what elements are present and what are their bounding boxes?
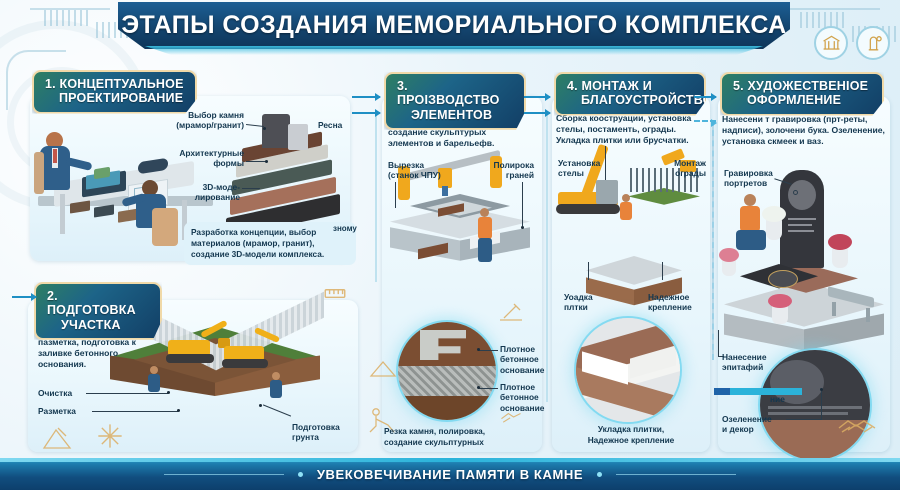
stage-1-bubble: Разработка концепции, выбор материалов (… [184, 222, 356, 265]
stage-2-badge[interactable]: 2. ПОДГОТОВКА УЧАСТКА [34, 282, 162, 340]
leader-dot [793, 190, 798, 195]
flow-arrow-into-2 [12, 296, 36, 298]
engraved-portrait [788, 180, 816, 210]
stage-5-badge-line2: ОФОРМЛЕНИЕ [733, 93, 871, 107]
chisel-icon [496, 300, 526, 331]
footer-dot [597, 472, 602, 477]
stage-5-badge[interactable]: 5. ХУДОЖЕСТВЕНІОЕ ОФОРМЛЕНИЕ [720, 72, 884, 116]
label-secure-fixing: Надежное крепление [648, 292, 692, 313]
stage-4-badge[interactable]: 4. МОНТАЖ И БЛАГОУСТРОЙСТВО [554, 72, 706, 116]
label-architectural-forms: Архитектурные формы [152, 148, 244, 169]
stage-4-badge-line1: 4. МОНТАЖ И [567, 79, 693, 93]
monument-icon[interactable] [856, 26, 890, 60]
footer-rule [164, 474, 284, 475]
flow-arrow-2-3 [352, 112, 380, 114]
leader-line [395, 182, 396, 208]
leader-dot [263, 127, 266, 130]
leader-dot [521, 226, 524, 229]
flow-arrow-4-5 [694, 96, 716, 98]
zoom-circle-tiles [576, 318, 680, 422]
worker-body [478, 217, 492, 239]
leader-line [786, 419, 822, 420]
worker-head [272, 372, 280, 380]
title-plate: ЭТАПЫ СОЗДАНИЯ МЕМОРИАЛЬНОГО КОМПЛЕКСА [118, 2, 790, 49]
flow-arrow-4-5-dashed [694, 120, 716, 122]
label-resna: Ресна [318, 120, 342, 130]
handshake-icon [836, 412, 878, 447]
rail-1 [375, 112, 377, 282]
overlay-bar [714, 388, 802, 395]
crane-track [556, 204, 620, 214]
leader-line [522, 182, 523, 226]
footer: УВЕКОВЕЧИВАНИЕ ПАМЯТИ В КАМНЕ [0, 458, 900, 490]
ledger-portrait [768, 270, 798, 288]
worker-body [620, 202, 632, 220]
label-3d-modeling: 3D-моде- лирование [152, 182, 240, 203]
label-marking: Разметка [38, 406, 76, 416]
leader-line [821, 390, 822, 420]
stage-1-badge[interactable]: 1. КОНЦЕПТУАЛЬНОЕ ПРОЕКТИРОВАНИЕ [32, 70, 197, 114]
stage-4-badge-line2: БЛАГОУСТРОЙСТВО [567, 93, 693, 107]
leader-line [92, 411, 178, 412]
label-epitaph: Нанесение эпитафий [722, 352, 767, 373]
label-portrait-engraving: Гравировка портретов [724, 168, 773, 189]
stage-4-description: Сборка кооструации, установка стелы, пос… [556, 113, 708, 146]
label-obscured-bar: ние [770, 394, 785, 404]
leader-dot [167, 391, 170, 394]
stele-light [288, 124, 308, 150]
leader-line [86, 393, 168, 394]
leader-line [588, 262, 589, 280]
ruler-icon [322, 280, 348, 311]
stage-5-badge-line1: 5. ХУДОЖЕСТВЕНІОЕ [733, 79, 871, 93]
stage-3-caption: Резка камня, полировка, создание скульпт… [384, 426, 534, 448]
stage-5-description: Нанесени т гравировка (прт-реты, надписи… [722, 114, 888, 147]
cnc-tool [442, 186, 448, 196]
chair [152, 208, 178, 246]
stage-3-badge-line2: ЭЛЕМЕНТОВ [397, 108, 513, 122]
worker-body [270, 380, 282, 398]
stage-3-badge[interactable]: 3. ПРОІЗВОДСТВО ЭЛЕМЕНТОВ [384, 72, 526, 130]
classical-building-icon[interactable] [814, 26, 848, 60]
table-leg [60, 194, 65, 234]
flowers-pink [768, 294, 792, 308]
leader-line [242, 188, 260, 189]
leader-line [662, 262, 663, 280]
page-title: ЭТАПЫ СОЗДАНИЯ МЕМОРИАЛЬНОГО КОМПЛЕКСА [121, 11, 786, 40]
stage-1-badge-line2: ПРОЕКТИРОВАНИЕ [45, 91, 184, 105]
leader-line [246, 161, 266, 162]
flow-arrow-1-3 [352, 96, 380, 98]
engraved-line [788, 224, 812, 226]
bench-leg [866, 308, 870, 322]
person-tie [53, 149, 57, 163]
zoom-circle-concrete [398, 322, 496, 420]
stele-block [596, 180, 618, 204]
trowel-icon [40, 424, 76, 457]
header: ЭТАПЫ СОЗДАНИЯ МЕМОРИАЛЬНОГО КОМПЛЕКСА [0, 0, 900, 62]
stage-3-badge-line1: 3. ПРОІЗВОДСТВО [397, 79, 513, 108]
leader-dot [477, 386, 480, 389]
material-sample [70, 200, 90, 213]
rail-3 [712, 120, 714, 360]
leader-dot [265, 160, 268, 163]
label-tile-laying: Уоадка плтки [564, 292, 593, 313]
flowers-red [828, 234, 852, 250]
footer-dot [298, 472, 303, 477]
snowflake-icon [96, 422, 124, 455]
worker-head [622, 194, 630, 202]
label-edge-polishing: Полирока граней [472, 160, 534, 181]
rail-2 [546, 112, 548, 402]
stone-block-icon [368, 356, 398, 387]
infographic-root: ЭТАПЫ СОЗДАНИЯ МЕМОРИАЛЬНОГО КОМПЛЕКСА [0, 0, 900, 490]
worker-body [740, 206, 760, 232]
label-cnc-cutting: Вырезка (станок ЧПУ) [388, 160, 441, 181]
leader-line [478, 350, 498, 351]
label-soil-prep: Подготовка грунта [292, 422, 340, 443]
flowers-white [762, 206, 786, 222]
worker-legs [478, 238, 492, 262]
label-fence-mount: Монтаж ограды [660, 158, 706, 179]
label-landscaping-decor: Озеленение и декор [722, 414, 772, 435]
excavator-track [222, 359, 268, 368]
stele-dark [262, 114, 290, 148]
material-sample [94, 204, 114, 217]
worker-legs [736, 230, 766, 250]
leader-dot [820, 388, 823, 391]
stage-2-badge-line2: УЧАСТКА [47, 318, 149, 332]
stage-2-badge-line1: 2. ПОДГОТОВКА [47, 289, 149, 318]
leader-dot [259, 404, 262, 407]
leader-line [478, 388, 498, 389]
worker-body [148, 374, 160, 392]
stage-4-caption: Укладка плитки, Надежное крепление [552, 424, 710, 446]
stage-1-bubble-overlap: зному [333, 224, 357, 234]
label-dense-base-top: Плотное бетонное основание [500, 344, 544, 375]
label-clearing: Очистка [38, 388, 72, 398]
flow-arrow-3-4a [524, 96, 550, 98]
engraved-line [788, 218, 816, 220]
flow-arrow-3-4b [524, 112, 550, 114]
engraved-line [788, 230, 814, 232]
title-glow [118, 46, 790, 55]
crane-cable [605, 146, 606, 182]
worker-head [480, 208, 489, 217]
stage-1-badge-line1: 1. КОНЦЕПТУАЛЬНОЕ [45, 77, 184, 91]
worker-head [744, 194, 756, 206]
excavator-track [166, 354, 214, 363]
leader-dot [477, 348, 480, 351]
label-stele-install: Установка стелы [558, 158, 600, 179]
footer-rule [616, 474, 736, 475]
label-stone-choice: Выбор камня (мрамор/гранит) [148, 110, 244, 131]
chair-back [34, 152, 44, 194]
bench-leg [832, 302, 836, 316]
footer-text: УВЕКОВЕЧИВАНИЕ ПАМЯТИ В КАМНЕ [317, 467, 583, 482]
leader-line [718, 330, 719, 356]
flowers-pink [719, 248, 739, 262]
header-icons [814, 26, 890, 60]
leader-dot [177, 409, 180, 412]
label-dense-base-bottom: Плотное бетонное основание [500, 382, 544, 413]
